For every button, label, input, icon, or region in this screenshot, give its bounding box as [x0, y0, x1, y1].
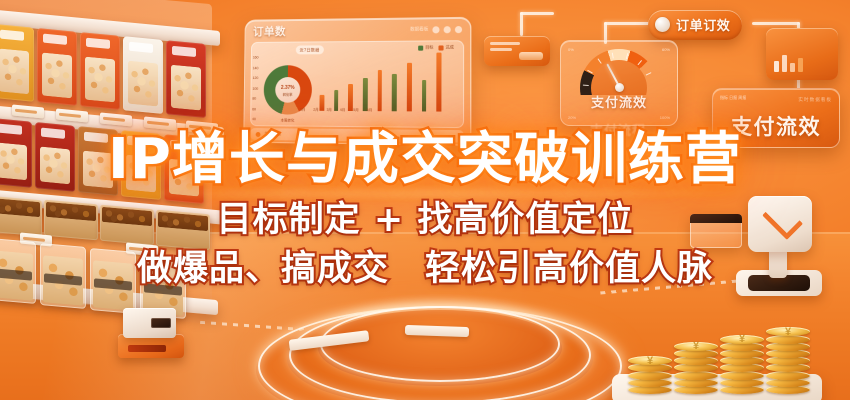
mini-card-button[interactable]	[519, 52, 543, 60]
subline1-container: 目标制定 + 找高价值定位	[0, 203, 850, 238]
x-tick: 2月	[313, 108, 318, 113]
stat-bar	[798, 58, 803, 72]
y-tick: 100	[252, 86, 258, 90]
chart-bar	[437, 53, 442, 112]
x-tick: 6月	[367, 108, 373, 113]
pos-terminal[interactable]	[118, 302, 184, 358]
legend-item: 目标	[418, 45, 433, 51]
stat-bar	[790, 63, 795, 72]
subtitle-line-1: 目标制定 + 找高价值定位	[217, 203, 634, 238]
maximize-dot-icon[interactable]	[444, 26, 451, 33]
gold-coin	[720, 335, 764, 344]
dashboard-header-meta: 数据看板	[410, 26, 428, 32]
mini-metric-card[interactable]	[484, 36, 550, 66]
y-tick: 120	[253, 76, 259, 80]
x-tick: 5月	[353, 108, 359, 113]
y-tick: 140	[253, 66, 259, 70]
y-tick: 60	[252, 107, 258, 111]
big-card-meta: 指标 日报 周报	[720, 95, 746, 101]
chart-bar	[377, 70, 382, 111]
gold-coin	[674, 342, 718, 351]
page-title: IP增长与成交突破训练营	[108, 132, 742, 188]
gauge-hub-icon	[615, 83, 624, 92]
snack-pack	[37, 28, 77, 106]
bar-chart	[319, 53, 441, 112]
chart-bar	[407, 63, 412, 112]
legend-item: 达成	[438, 44, 453, 50]
podium-glow-ring	[320, 306, 560, 382]
connector-wire	[604, 22, 650, 25]
chart-bar	[363, 78, 368, 111]
chart-bar	[392, 74, 397, 111]
stat-bar	[782, 55, 787, 72]
y-axis-labels: 160 140 120 100 80 60 40 20	[252, 56, 259, 129]
x-tick: 1月	[300, 108, 305, 113]
gold-coin	[628, 356, 672, 365]
mini-bar-stat-card[interactable]	[766, 28, 838, 80]
chart-legend: 目标 达成	[418, 44, 454, 50]
headline-container: IP增长与成交突破训练营	[0, 132, 850, 188]
gold-coin	[766, 327, 810, 336]
gauge-corner-label: 60%	[662, 47, 670, 52]
dashboard-title: 订单数	[253, 23, 286, 39]
mini-card-rows	[490, 42, 520, 51]
legend-label: 达成	[446, 44, 454, 50]
snack-pack	[0, 24, 34, 102]
y-tick: 80	[252, 97, 258, 101]
donut-footer-caption: 本周转化	[258, 118, 318, 123]
promo-banner: 订单数 数据看板 近7日数据 目标 达成 160 140 120 100 80 …	[0, 0, 850, 400]
circular-stage-podium	[255, 282, 625, 400]
dashboard-body: 近7日数据 目标 达成 160 140 120 100 80 60 40 20 …	[250, 40, 464, 128]
gauge-card-label: 支付流效	[561, 92, 677, 111]
dashboard-titlebar: 订单数 数据看板	[245, 18, 470, 42]
pill-label: 订单订效	[676, 15, 730, 34]
snack-pack	[123, 36, 163, 114]
subtitle-line-2: 做爆品、搞成交 轻松引高价值人脉	[137, 252, 713, 287]
close-dot-icon[interactable]	[455, 26, 462, 33]
coin-stack	[766, 320, 810, 394]
legend-label: 目标	[425, 45, 433, 51]
gauge-dial	[580, 49, 658, 95]
snack-pack	[166, 40, 206, 118]
window-controls[interactable]: 数据看板	[410, 26, 462, 34]
connector-wire	[752, 22, 800, 25]
snack-pack	[80, 32, 120, 110]
connector-wire	[520, 12, 554, 15]
x-tick: 3月	[326, 108, 332, 113]
donut-center-value: 2.37%	[264, 85, 312, 91]
coin-stack	[674, 335, 718, 394]
x-axis-labels: 1月 2月 3月 4月 5月 6月	[300, 108, 372, 113]
gauge-corner-label: 0%	[568, 47, 574, 52]
status-circle-icon	[655, 17, 670, 32]
x-tick: 4月	[340, 108, 346, 113]
payment-efficiency-gauge-card[interactable]: 0% 60% 20% 100% 支付流效	[560, 40, 678, 126]
legend-swatch-orange	[438, 45, 443, 50]
donut-center-caption: 转化率	[264, 92, 312, 97]
connector-wire	[520, 12, 523, 36]
subline2-container: 做爆品、搞成交 轻松引高价值人脉	[0, 252, 850, 287]
coin-stack	[720, 327, 764, 394]
minimize-dot-icon[interactable]	[432, 26, 439, 33]
chart-bar	[348, 84, 353, 111]
stat-bar	[774, 61, 779, 72]
y-tick: 160	[253, 56, 259, 60]
chart-bar	[422, 80, 427, 112]
legend-swatch-green	[418, 45, 423, 50]
order-efficiency-pill-badge[interactable]: 订单订效	[648, 10, 742, 40]
pos-screen	[123, 308, 176, 338]
coin-stack	[628, 349, 672, 394]
big-card-meta-secondary: 实时数据看板	[798, 97, 832, 103]
gold-coin-stacks	[628, 302, 824, 394]
